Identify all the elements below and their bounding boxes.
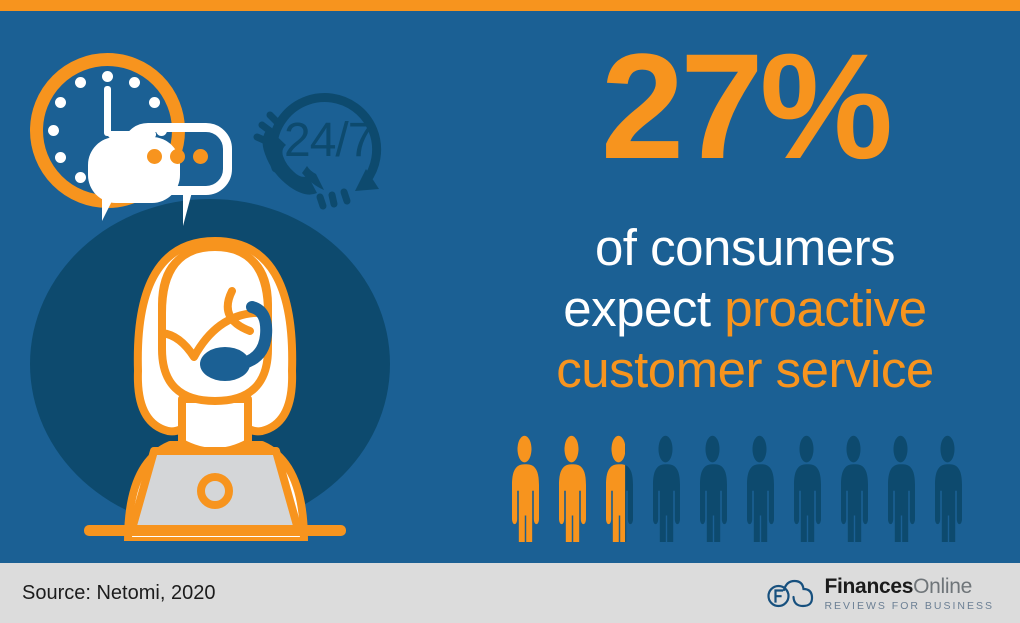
headline-segment: expect: [563, 280, 724, 337]
headline-line-1: of consumers: [470, 217, 1020, 278]
footer-bar: Source: Netomi, 2020 FinancesOnline REVI…: [0, 563, 1020, 623]
brand-name: FinancesOnline: [824, 576, 994, 597]
customer-service-agent-illustration: [70, 221, 360, 541]
chat-dot-1-icon: [147, 149, 162, 164]
person-icon: [884, 432, 917, 542]
brand-name-bold: Finances: [824, 575, 913, 598]
headline-line-2: expect proactive: [470, 278, 1020, 339]
person-icon: [555, 432, 588, 542]
brand-tagline: REVIEWS FOR BUSINESS: [824, 601, 994, 612]
headline-line-3: customer service: [470, 339, 1020, 400]
infographic-canvas: 24/7: [0, 0, 1020, 623]
support-24-7-label: 24/7: [284, 113, 373, 168]
person-icon: [790, 432, 823, 542]
person-icon: [931, 432, 964, 542]
people-pictogram-chart: [508, 424, 986, 542]
stat-percentage: 27%: [470, 31, 1020, 181]
person-icon: [837, 432, 870, 542]
financesonline-logo[interactable]: FinancesOnline REVIEWS FOR BUSINESS: [765, 574, 994, 614]
24-7-phone-support-icon: 24/7: [248, 73, 400, 223]
brand-name-light: Online: [913, 575, 972, 598]
brand-wordmark: FinancesOnline REVIEWS FOR BUSINESS: [824, 576, 994, 612]
chat-dot-2-icon: [170, 149, 185, 164]
financesonline-cloud-f-logo-icon: [765, 577, 815, 611]
clock-minute-hand: [104, 86, 111, 136]
headline-text: of consumers expect proactive customer s…: [470, 217, 1020, 400]
illustration-panel: 24/7: [0, 11, 470, 563]
person-icon: [696, 432, 729, 542]
content-panel: 27% of consumers expect proactive custom…: [470, 11, 1020, 563]
person-icon: [602, 432, 635, 542]
person-icon: [508, 432, 541, 542]
top-accent-bar: [0, 0, 1020, 11]
headline-segment-accent: proactive: [724, 280, 926, 337]
headline-segment-accent: customer service: [556, 341, 933, 398]
person-icon: [649, 432, 682, 542]
headline-segment: of consumers: [595, 219, 895, 276]
person-icon: [743, 432, 776, 542]
chat-dot-3-icon: [193, 149, 208, 164]
source-label: Source: Netomi, 2020: [22, 582, 215, 605]
